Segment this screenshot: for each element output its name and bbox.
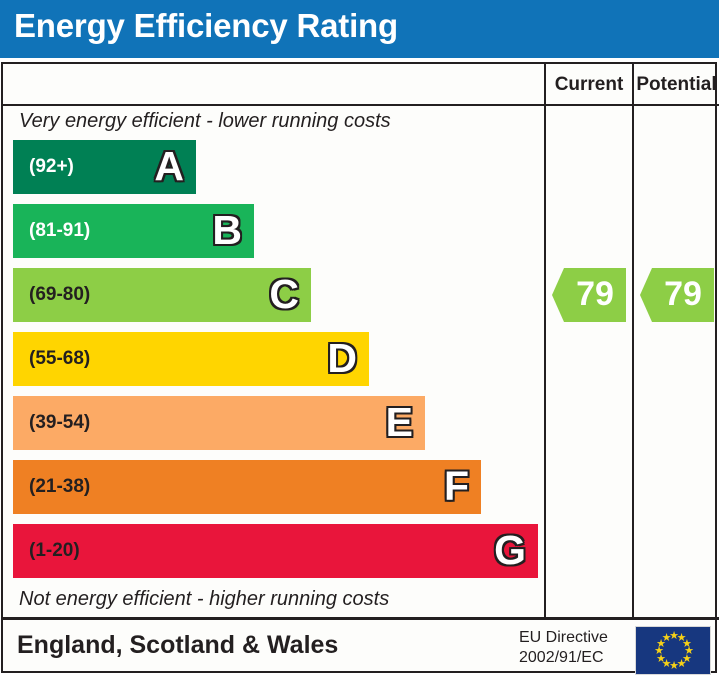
band-range-g: (1-20)	[29, 524, 80, 578]
energy-efficiency-rating-chart: Energy Efficiency Rating Current Potenti…	[0, 0, 719, 675]
band-range-f: (21-38)	[29, 460, 90, 514]
potential-rating-value: 79	[652, 268, 714, 322]
band-e: (39-54)E	[13, 396, 425, 450]
band-d: (55-68)D	[13, 332, 369, 386]
band-letter-e: E	[386, 396, 413, 450]
band-range-e: (39-54)	[29, 396, 90, 450]
band-letter-g: G	[494, 524, 526, 578]
band-letter-a: A	[154, 140, 184, 194]
band-b: (81-91)B	[13, 204, 254, 258]
footer-region-label: England, Scotland & Wales	[17, 631, 338, 660]
column-divider-current	[544, 64, 546, 617]
column-divider-potential	[632, 64, 634, 617]
eu-flag-star: ★	[661, 633, 672, 644]
caption-efficient: Very energy efficient - lower running co…	[19, 110, 391, 133]
band-a: (92+)A	[13, 140, 196, 194]
current-rating-arrow: 79	[552, 268, 626, 322]
band-range-d: (55-68)	[29, 332, 90, 386]
band-range-a: (92+)	[29, 140, 74, 194]
column-header-potential: Potential	[634, 72, 719, 98]
band-letter-d: D	[327, 332, 357, 386]
band-letter-b: B	[212, 204, 242, 258]
eu-directive-line1: EU Directive	[519, 628, 627, 648]
eu-flag-icon: ★★★★★★★★★★★★	[635, 626, 711, 675]
footer: England, Scotland & Wales EU Directive 2…	[3, 620, 719, 675]
potential-rating-arrow: 79	[640, 268, 714, 322]
page-title: Energy Efficiency Rating	[14, 7, 398, 45]
band-c: (69-80)C	[13, 268, 311, 322]
title-bar: Energy Efficiency Rating	[0, 0, 719, 58]
eu-directive-line2: 2002/91/EC	[519, 648, 627, 668]
band-g: (1-20)G	[13, 524, 538, 578]
header-rule	[3, 104, 719, 106]
band-letter-f: F	[444, 460, 469, 514]
band-letter-c: C	[269, 268, 299, 322]
band-f: (21-38)F	[13, 460, 481, 514]
column-header-current: Current	[546, 72, 632, 98]
caption-not-efficient: Not energy efficient - higher running co…	[19, 588, 389, 611]
rating-table: Current Potential Very energy efficient …	[1, 62, 717, 673]
band-range-b: (81-91)	[29, 204, 90, 258]
current-rating-value: 79	[564, 268, 626, 322]
eu-directive-text: EU Directive 2002/91/EC	[519, 628, 627, 668]
band-range-c: (69-80)	[29, 268, 90, 322]
